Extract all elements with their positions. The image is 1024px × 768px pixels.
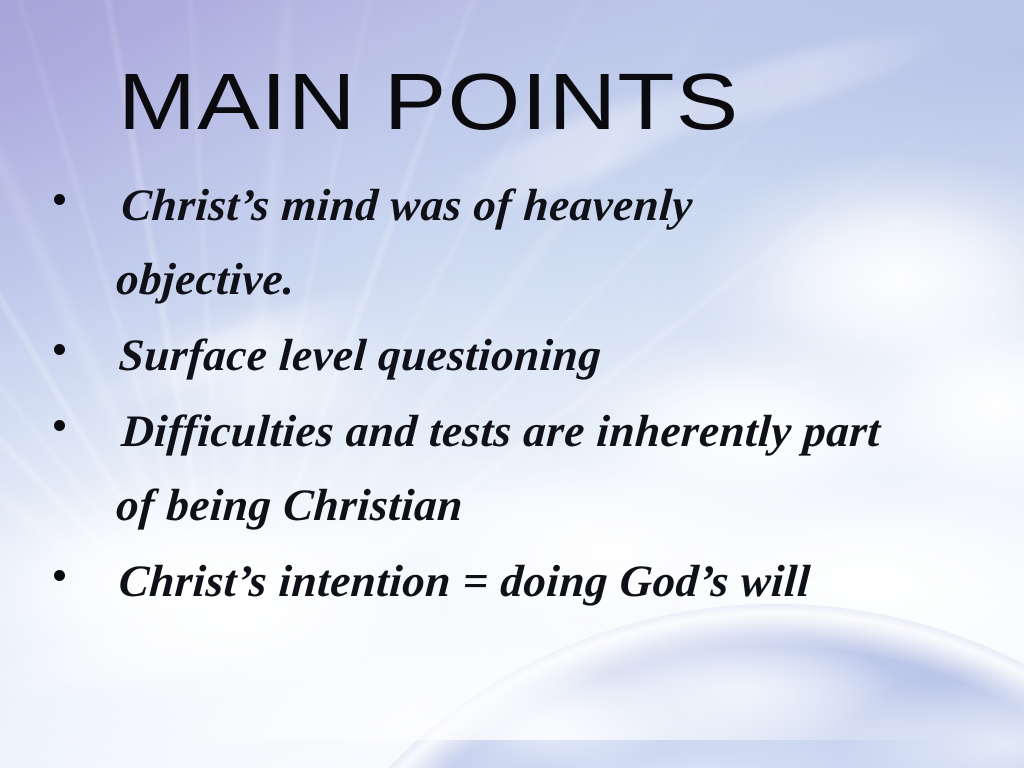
- bullet-dot-icon: [54, 570, 65, 581]
- bullet-dot-icon: [54, 344, 65, 355]
- list-item: Difficulties and tests are inherently pa…: [0, 394, 1024, 542]
- list-item: Surface level questioning: [0, 318, 1024, 392]
- bullet-text: Christ’s mind was of heavenly objective.: [114, 168, 824, 316]
- bullet-text: Christ’s intention = doing God’s will: [116, 544, 921, 618]
- bullet-list: Christ’s mind was of heavenly objective.…: [0, 168, 1024, 620]
- bullet-text: Difficulties and tests are inherently pa…: [114, 394, 914, 542]
- page-title: MAIN POINTS: [118, 62, 739, 142]
- bullet-dot-icon: [54, 194, 65, 205]
- presentation-slide: MAIN POINTS Christ’s mind was of heavenl…: [0, 0, 1024, 768]
- bullet-text: Surface level questioning: [116, 318, 881, 392]
- list-item: Christ’s mind was of heavenly objective.: [0, 168, 1024, 316]
- slide-content: MAIN POINTS Christ’s mind was of heavenl…: [0, 0, 1024, 768]
- bullet-dot-icon: [54, 420, 65, 431]
- list-item: Christ’s intention = doing God’s will: [0, 544, 1024, 618]
